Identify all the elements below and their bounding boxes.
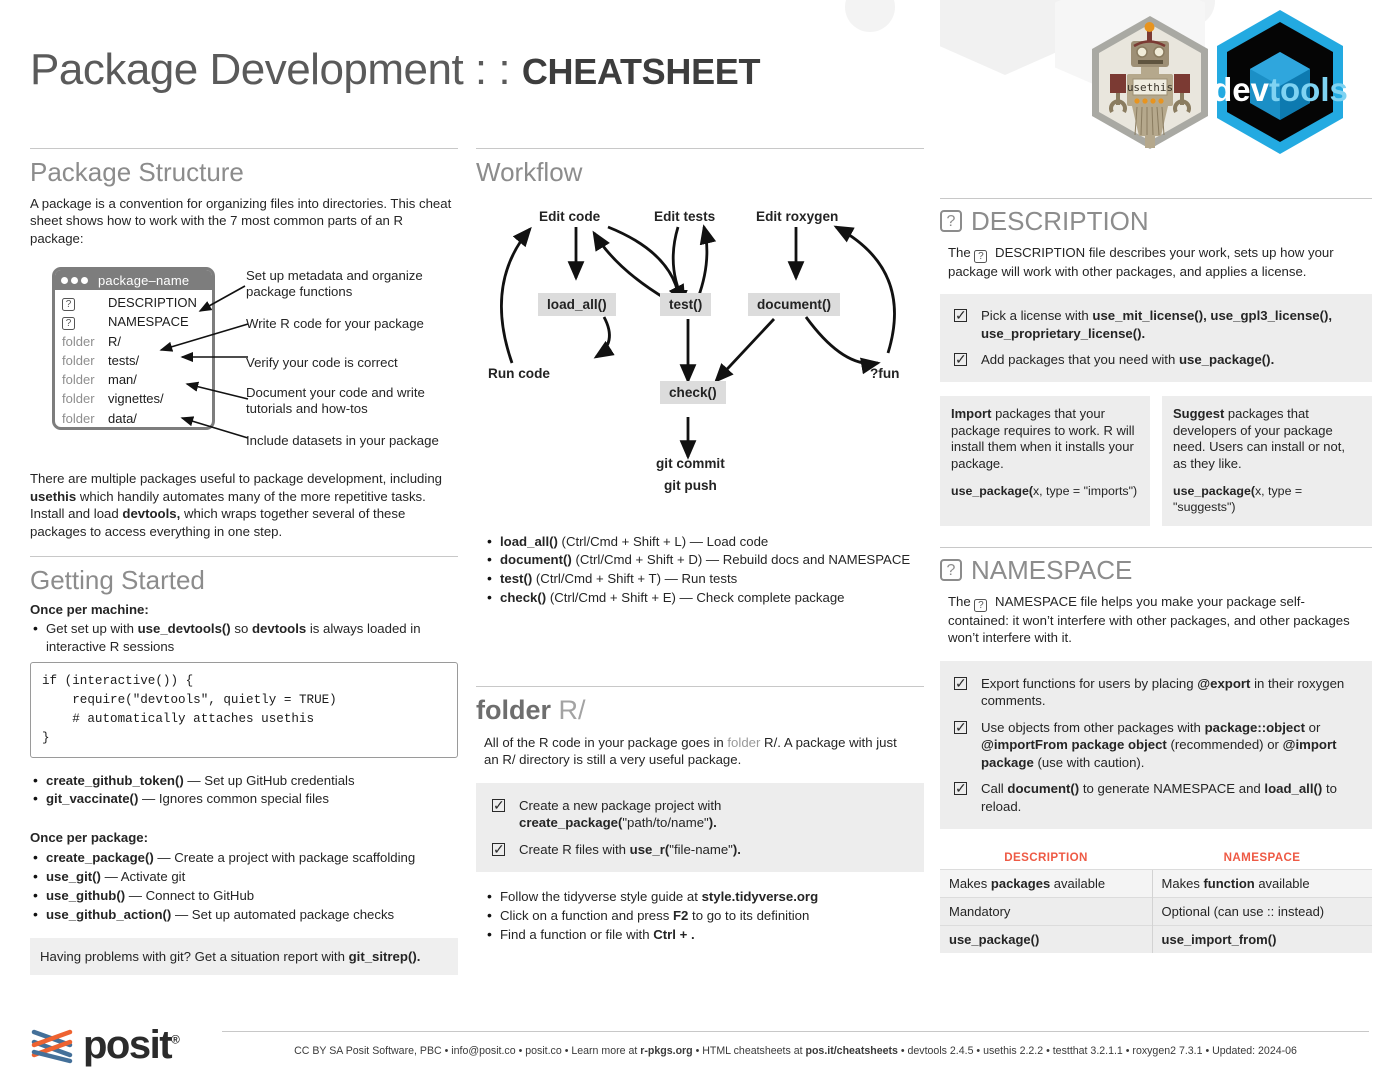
namespace-checklist: Export functions for users by placing @e… <box>940 661 1372 830</box>
folder-r-intro: All of the R code in your package goes i… <box>484 734 912 769</box>
list-item: create_package() — Create a project with… <box>30 849 458 867</box>
code-block-interactive: if (interactive()) { require("devtools",… <box>30 662 458 758</box>
fn: use_github() <box>46 888 125 903</box>
t-pre: Optional (can use :: instead) <box>1162 904 1325 919</box>
section-heading-namespace: ? NAMESPACE <box>940 554 1372 587</box>
table-col-description: DESCRIPTION <box>940 847 1152 870</box>
list-item: document() (Ctrl/Cmd + Shift + D) — Rebu… <box>484 551 924 569</box>
checklist-text: Add packages that you need with use_pack… <box>981 351 1274 369</box>
window-dot-yellow <box>71 277 78 284</box>
callout-text: Set up metadata and organize package fun… <box>246 268 423 299</box>
checklist-text: Call document() to generate NAMESPACE an… <box>981 780 1358 815</box>
checklist-item: Add packages that you need with use_pack… <box>954 351 1358 369</box>
note-text: Having problems with git? Get a situatio… <box>40 949 349 964</box>
workflow-node-edit-code: Edit code <box>539 209 600 224</box>
intro-a: All of the R code in your package goes i… <box>484 735 727 750</box>
t-a: Call <box>981 781 1007 796</box>
fn: use_git() <box>46 869 101 884</box>
sep: • <box>516 1045 526 1057</box>
table-row: Mandatory Optional (can use :: instead) <box>940 898 1372 926</box>
card-title: Suggest <box>1173 406 1224 421</box>
intro-a: The <box>948 245 974 260</box>
description-checklist: Pick a license with use_mit_license(), u… <box>940 294 1372 382</box>
fn: document() <box>500 552 572 567</box>
note-git-sitrep: Having problems with git? Get a situatio… <box>30 938 458 975</box>
description-cards: Import packages that your package requir… <box>940 396 1372 526</box>
list-workflow-shortcuts: load_all() (Ctrl/Cmd + Shift + L) — Load… <box>484 533 924 608</box>
brand-text: posit <box>83 1023 171 1067</box>
divider <box>940 547 1372 548</box>
desc: (Ctrl/Cmd + Shift + T) — Run tests <box>532 571 737 586</box>
workflow-node-qfun: ?fun <box>870 366 899 381</box>
posit-mark-icon <box>28 1024 76 1068</box>
check-icon <box>954 677 967 690</box>
table-header-row: DESCRIPTION NAMESPACE <box>940 847 1372 870</box>
question-icon: ? <box>62 317 75 330</box>
checklist-text: Pick a license with use_mit_license(), u… <box>981 307 1358 342</box>
list-item: test() (Ctrl/Cmd + Shift + T) — Run test… <box>484 570 924 588</box>
list-item: use_github() — Connect to GitHub <box>30 887 458 905</box>
divider <box>476 148 924 149</box>
heading-text: NAMESPACE <box>971 554 1132 587</box>
package-structure-intro: A package is a convention for organizing… <box>30 195 458 248</box>
intro-folder-word: folder <box>727 735 760 750</box>
checklist-item: Create a new package project with create… <box>492 797 908 832</box>
label-once-per-machine: Once per machine: <box>30 601 458 619</box>
workflow-box-test: test() <box>660 293 711 316</box>
t-b: packages <box>991 876 1050 891</box>
callout-write-r: Write R code for your package <box>246 316 446 332</box>
list-item: git_vaccinate() — Ignores common special… <box>30 790 458 808</box>
workflow-diagram: Edit code Edit tests Edit roxygen load_a… <box>476 195 924 515</box>
t-g: (use with caution). <box>1034 755 1145 770</box>
fn: devtools <box>252 621 306 636</box>
checklist-text: Create R files with use_r("file-name"). <box>519 841 741 859</box>
list-item: use_github_action() — Set up automated p… <box>30 906 458 924</box>
fn: git_vaccinate() <box>46 791 138 806</box>
question-icon: ? <box>940 210 962 232</box>
t-pre: Makes <box>949 876 991 891</box>
card-suggest: Suggest packages that developers of your… <box>1162 396 1372 526</box>
column-workflow: Workflow <box>476 148 924 608</box>
posit-wordmark: posit® <box>83 1023 178 1068</box>
checklist-text: Create a new package project with create… <box>519 797 721 832</box>
page-title-bold: CHEATSHEET <box>522 51 760 92</box>
divider <box>476 686 924 687</box>
desc: — Connect to GitHub <box>125 888 254 903</box>
desc: — Ignores common special files <box>138 791 329 806</box>
list-once-per-package: create_package() — Create a project with… <box>30 849 458 924</box>
list-item: Find a function or file with Ctrl + . <box>484 926 924 944</box>
usethis-logo-icon: usethis <box>1092 16 1208 149</box>
t-a: Add packages that you need with <box>981 352 1179 367</box>
table-cell: use_package() <box>940 926 1152 954</box>
t-b: use_package(). <box>1179 352 1274 367</box>
t-b: use_r( <box>630 842 670 857</box>
column-package-structure: Package Structure A package is a convent… <box>30 148 458 247</box>
workflow-box-load-all: load_all() <box>538 293 616 316</box>
checklist-item: Export functions for users by placing @e… <box>954 675 1358 710</box>
table-cell: Makes function available <box>1152 870 1372 898</box>
fn: create_package() <box>46 850 154 865</box>
fn-b: use_package( <box>951 484 1033 498</box>
package-row-label: R/ <box>108 332 121 351</box>
t-c: "file-name" <box>669 842 733 857</box>
t-b: Ctrl + . <box>653 927 694 942</box>
divider <box>30 556 458 557</box>
workflow-node-edit-tests: Edit tests <box>654 209 715 224</box>
t-e: (recommended) or <box>1167 737 1283 752</box>
list-item: create_github_token() — Set up GitHub cr… <box>30 772 458 790</box>
logo-group: usethis <box>1075 8 1375 158</box>
file-icon: ? <box>62 312 108 331</box>
package-structure-outro: There are multiple packages useful to pa… <box>30 470 460 540</box>
table-col-namespace: NAMESPACE <box>1152 847 1372 870</box>
folder-tag: folder <box>62 409 108 428</box>
t-a: Use objects from other packages with <box>981 720 1205 735</box>
card-import: Import packages that your package requir… <box>940 396 1150 526</box>
window-dot-green <box>81 277 88 284</box>
list-item: load_all() (Ctrl/Cmd + Shift + L) — Load… <box>484 533 924 551</box>
t-c: to generate NAMESPACE and <box>1079 781 1264 796</box>
list-item: Click on a function and press F2 to go t… <box>484 907 924 925</box>
check-icon <box>954 353 967 366</box>
workflow-box-check: check() <box>660 381 726 404</box>
section-namespace: ? NAMESPACE The ? NAMESPACE file helps y… <box>940 547 1372 953</box>
devtools-logo-icon: devtools <box>1212 10 1348 154</box>
page-title-light: Package Development : : <box>30 45 522 94</box>
file-icon: ? <box>62 293 108 312</box>
watermark-hex-1 <box>940 0 1070 75</box>
t-b: package::object <box>1205 720 1305 735</box>
t-b: function <box>1203 876 1254 891</box>
credit-cheatsheets-link[interactable]: pos.it/cheatsheets <box>805 1045 897 1057</box>
callout-text: Verify your code is correct <box>246 355 398 370</box>
t-a: Create R files with <box>519 842 630 857</box>
svg-text:devtools: devtools <box>1212 71 1348 108</box>
table-row: use_package() use_import_from() <box>940 926 1372 954</box>
t-a: Follow the tidyverse style guide at <box>500 889 702 904</box>
fn: check() <box>500 590 546 605</box>
credit-rpkgs-link[interactable]: r-pkgs.org <box>640 1045 692 1057</box>
page-footer: posit® CC BY SA Posit Software, PBC • in… <box>0 1009 1397 1079</box>
section-getting-started: Getting Started Once per machine: Get se… <box>30 556 458 975</box>
folder-r-checklist: Create a new package project with create… <box>476 783 924 873</box>
description-intro: The ? DESCRIPTION file describes your wo… <box>948 244 1366 281</box>
check-icon <box>492 799 505 812</box>
logos-svg: usethis <box>1075 8 1375 158</box>
callout-text: Document your code and write tutorials a… <box>246 385 425 416</box>
package-callout-arrows <box>150 262 260 452</box>
fn: use_devtools() <box>138 621 231 636</box>
t-c: to go to its definition <box>688 908 809 923</box>
credit-site[interactable]: posit.co <box>525 1045 562 1057</box>
t-a: Click on a function and press <box>500 908 673 923</box>
text: Get set up with <box>46 621 138 636</box>
checklist-item: Call document() to generate NAMESPACE an… <box>954 780 1358 815</box>
footer-credits: CC BY SA Posit Software, PBC • info@posi… <box>222 1045 1369 1057</box>
registered-mark: ® <box>171 1033 178 1047</box>
window-dot-red <box>61 277 68 284</box>
note-fn: git_sitrep(). <box>349 949 421 964</box>
folder-tag: folder <box>62 351 108 370</box>
card-title: Import <box>951 406 991 421</box>
table-cell: use_import_from() <box>1152 926 1372 954</box>
outro-devtools: devtools, <box>122 506 180 521</box>
list-folder-r-tips: Follow the tidyverse style guide at styl… <box>484 888 924 944</box>
list-machine-functions: create_github_token() — Set up GitHub cr… <box>30 772 458 809</box>
t-a: Pick a license with <box>981 308 1092 323</box>
callout-text: Include datasets in your package <box>246 433 439 448</box>
sep: • <box>442 1045 452 1057</box>
section-heading-folder-r: folder R/ <box>476 694 924 728</box>
card-function: use_package(x, type = "imports") <box>951 483 1139 499</box>
t-b: style.tidyverse.org <box>702 889 819 904</box>
cheatsheet-page: Package Development : : CHEATSHEET <box>0 0 1397 1079</box>
section-heading-workflow: Workflow <box>476 156 924 189</box>
callout-datasets: Include datasets in your package <box>246 433 456 449</box>
heading-text: DESCRIPTION <box>971 205 1149 238</box>
checklist-text: Use objects from other packages with pac… <box>981 719 1358 772</box>
table-cell: Optional (can use :: instead) <box>1152 898 1372 926</box>
t-d: ). <box>733 842 741 857</box>
fn: load_all() <box>500 534 558 549</box>
package-row-label: man/ <box>108 370 137 389</box>
t-d: @importFrom package object <box>981 737 1167 752</box>
table-cell: Mandatory <box>940 898 1152 926</box>
callout-metadata: Set up metadata and organize package fun… <box>246 268 454 300</box>
t-b: use_import_from() <box>1162 932 1277 947</box>
desc: (Ctrl/Cmd + Shift + E) — Check complete … <box>546 590 844 605</box>
t-b: @export <box>1197 676 1250 691</box>
check-icon <box>954 309 967 322</box>
fn: test() <box>500 571 532 586</box>
fn-r: x, type = "imports") <box>1033 484 1137 498</box>
desc: — Set up automated package checks <box>171 907 394 922</box>
check-icon <box>492 843 505 856</box>
fn: use_github_action() <box>46 907 171 922</box>
check-icon <box>954 782 967 795</box>
card-body: Suggest packages that developers of your… <box>1173 406 1361 474</box>
intro-b: NAMESPACE file helps you make your packa… <box>948 594 1350 646</box>
posit-logo: posit® <box>28 1023 178 1068</box>
callout-document: Document your code and write tutorials a… <box>246 385 451 417</box>
table-cell: Makes packages available <box>940 870 1152 898</box>
outro-usethis: usethis <box>30 489 76 504</box>
page-title: Package Development : : CHEATSHEET <box>30 45 760 95</box>
package-row-label: tests/ <box>108 351 139 370</box>
outro-pre: There are multiple packages useful to pa… <box>30 471 442 486</box>
credit-learn-more: • Learn more at <box>562 1045 641 1057</box>
t-b: F2 <box>673 908 688 923</box>
footer-divider <box>222 1031 1369 1032</box>
t-d: ). <box>709 815 717 830</box>
t-b: use_package() <box>949 932 1039 947</box>
t-pre: Mandatory <box>949 904 1010 919</box>
heading-light: R/ <box>559 695 586 725</box>
t-c: "path/to/name" <box>622 815 708 830</box>
desc: — Create a project with package scaffold… <box>154 850 415 865</box>
namespace-intro: The ? NAMESPACE file helps you make your… <box>948 593 1360 647</box>
intro-b: DESCRIPTION file describes your work, se… <box>948 245 1334 279</box>
question-icon: ? <box>940 559 962 581</box>
desc: — Set up GitHub credentials <box>184 773 355 788</box>
t-b: create_package( <box>519 815 622 830</box>
workflow-node-git-commit: git commit <box>656 456 725 471</box>
desc: (Ctrl/Cmd + Shift + L) — Load code <box>558 534 768 549</box>
question-icon: ? <box>974 250 987 263</box>
t-b: document() <box>1007 781 1079 796</box>
t-post: available <box>1050 876 1105 891</box>
compare-table: DESCRIPTION NAMESPACE Makes packages ava… <box>940 847 1372 953</box>
list-once-per-machine: Get set up with use_devtools() so devtoo… <box>30 620 458 656</box>
section-folder-r: folder R/ All of the R code in your pack… <box>476 686 924 945</box>
folder-tag: folder <box>62 370 108 389</box>
desc: (Ctrl/Cmd + Shift + D) — Rebuild docs an… <box>572 552 910 567</box>
watermark-circle-1 <box>845 0 895 32</box>
list-item: use_git() — Activate git <box>30 868 458 886</box>
fn-b: use_package( <box>1173 484 1255 498</box>
workflow-node-run-code: Run code <box>488 366 550 381</box>
svg-text:usethis: usethis <box>1127 81 1173 94</box>
section-heading-package-structure: Package Structure <box>30 156 458 189</box>
checklist-item: Create R files with use_r("file-name"). <box>492 841 908 859</box>
table-row: Makes packages available Makes function … <box>940 870 1372 898</box>
list-item: Get set up with use_devtools() so devtoo… <box>30 620 458 656</box>
list-item: check() (Ctrl/Cmd + Shift + E) — Check c… <box>484 589 924 607</box>
divider <box>30 148 458 149</box>
text: so <box>231 621 252 636</box>
divider <box>940 198 1372 199</box>
credit-versions: • devtools 2.4.5 • usethis 2.2.2 • testt… <box>898 1045 1297 1057</box>
folder-tag: folder <box>62 332 108 351</box>
question-icon: ? <box>974 599 987 612</box>
t-a: Create a new package project with <box>519 798 721 813</box>
credit-html-cheatsheets: • HTML cheatsheets at <box>693 1045 806 1057</box>
desc: — Activate git <box>101 869 185 884</box>
intro-a: The <box>948 594 974 609</box>
package-row-label: data/ <box>108 409 137 428</box>
folder-tag: folder <box>62 389 108 408</box>
t-pre: Makes <box>1162 876 1204 891</box>
section-description: ? DESCRIPTION The ? DESCRIPTION file des… <box>940 198 1372 526</box>
credit-license: CC BY SA Posit Software, PBC <box>294 1045 442 1057</box>
checklist-item: Use objects from other packages with pac… <box>954 719 1358 772</box>
section-heading-description: ? DESCRIPTION <box>940 205 1372 238</box>
t-post: available <box>1255 876 1310 891</box>
t-a: Export functions for users by placing <box>981 676 1197 691</box>
t-a: Find a function or file with <box>500 927 653 942</box>
credit-email[interactable]: info@posit.co <box>451 1045 515 1057</box>
section-heading-getting-started: Getting Started <box>30 564 458 597</box>
checklist-text: Export functions for users by placing @e… <box>981 675 1358 710</box>
card-body: Import packages that your package requir… <box>951 406 1139 474</box>
workflow-node-git-push: git push <box>664 478 717 493</box>
t-c: or <box>1305 720 1320 735</box>
workflow-node-edit-roxygen: Edit roxygen <box>756 209 838 224</box>
list-item: Follow the tidyverse style guide at styl… <box>484 888 924 906</box>
checklist-item: Pick a license with use_mit_license(), u… <box>954 307 1358 342</box>
label-once-per-package: Once per package: <box>30 829 458 847</box>
callout-verify: Verify your code is correct <box>246 355 446 371</box>
callout-text: Write R code for your package <box>246 316 424 331</box>
t-d: load_all() <box>1264 781 1322 796</box>
question-icon: ? <box>62 298 75 311</box>
fn: create_github_token() <box>46 773 184 788</box>
heading-bold: folder <box>476 695 559 725</box>
workflow-box-document: document() <box>748 293 840 316</box>
card-function: use_package(x, type = "suggests") <box>1173 483 1361 515</box>
check-icon <box>954 721 967 734</box>
